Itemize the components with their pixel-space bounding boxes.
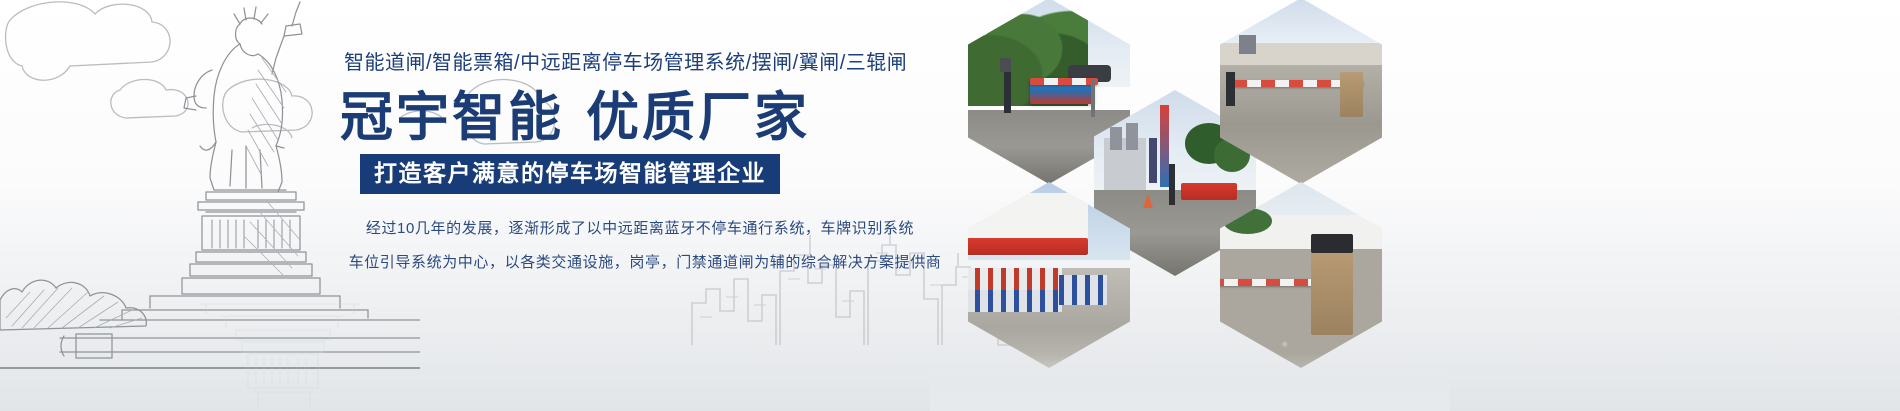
- banner-copy: 智能道闸/智能票箱/中远距离停车场管理系统/摆闸/翼闸/三辊闸 冠宇智能优质厂家…: [330, 0, 950, 411]
- promo-banner: 智能道闸/智能票箱/中远距离停车场管理系统/摆闸/翼闸/三辊闸 冠宇智能优质厂家…: [0, 0, 1900, 411]
- headline-left: 冠宇智能: [340, 88, 564, 147]
- headline-right: 优质厂家: [586, 88, 810, 147]
- description-line-1: 经过10几年的发展，逐渐形成了以中远距离蓝牙不停车通行系统，车牌识别系统: [330, 212, 950, 246]
- slogan-band: 打造客户满意的停车场智能管理企业: [360, 154, 780, 194]
- description-paragraph: 经过10几年的发展，逐渐形成了以中远距离蓝牙不停车通行系统，车牌识别系统 车位引…: [330, 212, 950, 280]
- page-title: 冠宇智能优质厂家: [340, 88, 810, 148]
- banner-subtitle: 智能道闸/智能票箱/中远距离停车场管理系统/摆闸/翼闸/三辊闸: [344, 50, 907, 76]
- collage-bottom-fade: [930, 354, 1450, 411]
- description-line-2: 车位引导系统为中心，以各类交通设施，岗亭，门禁通道闸为辅的综合解决方案提供商: [330, 246, 950, 280]
- hexagon-photo-collage: [930, 0, 1450, 411]
